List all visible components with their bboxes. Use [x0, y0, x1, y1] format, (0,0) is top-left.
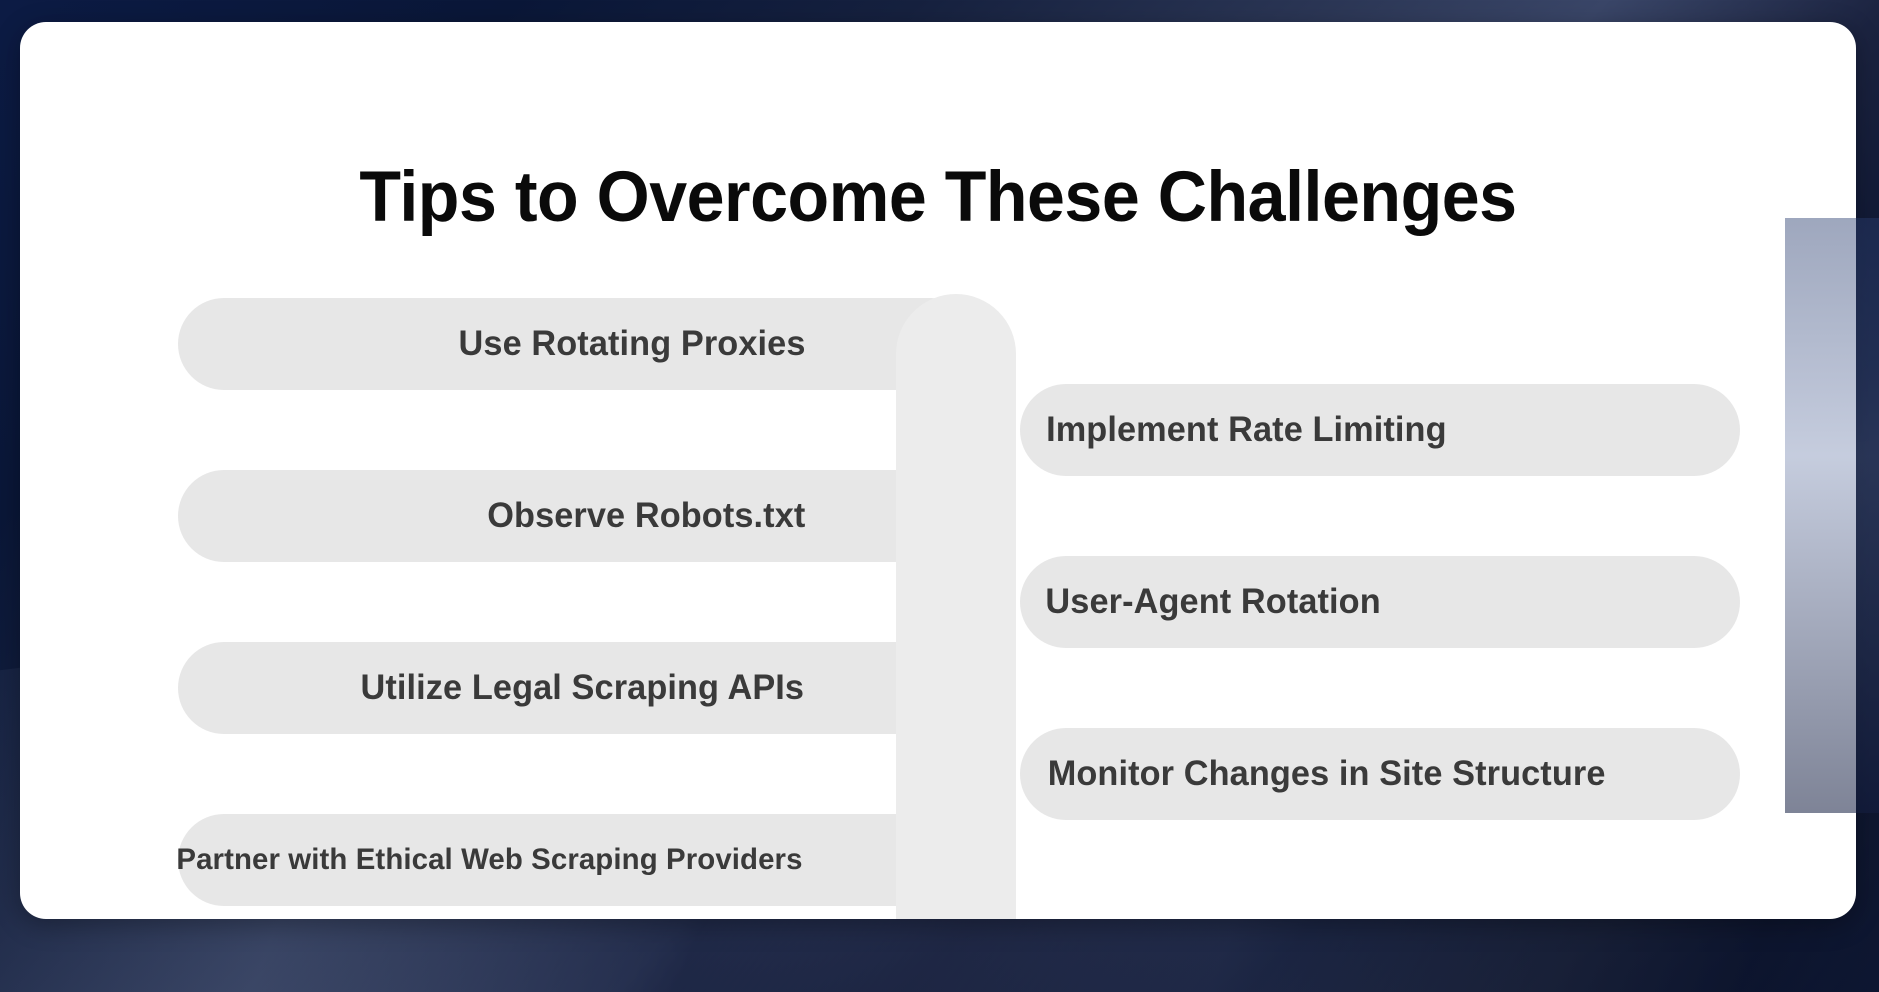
tip-label: Monitor Changes in Site Structure	[1048, 754, 1606, 794]
tip-label: Observe Robots.txt	[488, 496, 806, 536]
tip-bar[interactable]: Use Rotating Proxies	[178, 298, 977, 390]
tip-bar[interactable]: Monitor Changes in Site Structure	[1020, 728, 1740, 820]
tip-label: Partner with Ethical Web Scraping Provid…	[176, 843, 802, 877]
tip-label: Utilize Legal Scraping APIs	[361, 668, 805, 708]
tip-label: Use Rotating Proxies	[458, 324, 805, 364]
content-card: Tips to Overcome These Challenges Use Ro…	[20, 22, 1856, 919]
tip-label: Implement Rate Limiting	[1046, 410, 1447, 450]
tip-bar[interactable]: User-Agent Rotation	[1020, 556, 1740, 648]
tip-bar[interactable]: Implement Rate Limiting	[1020, 384, 1740, 476]
tip-label: User-Agent Rotation	[1045, 582, 1380, 622]
tip-bar[interactable]: Utilize Legal Scraping APIs	[178, 642, 977, 734]
tip-bar[interactable]: Observe Robots.txt	[178, 470, 977, 562]
tip-bar[interactable]: Partner with Ethical Web Scraping Provid…	[178, 814, 977, 906]
infographic-page: Tips to Overcome These Challenges Use Ro…	[0, 0, 1879, 992]
center-number-column	[896, 294, 1016, 919]
